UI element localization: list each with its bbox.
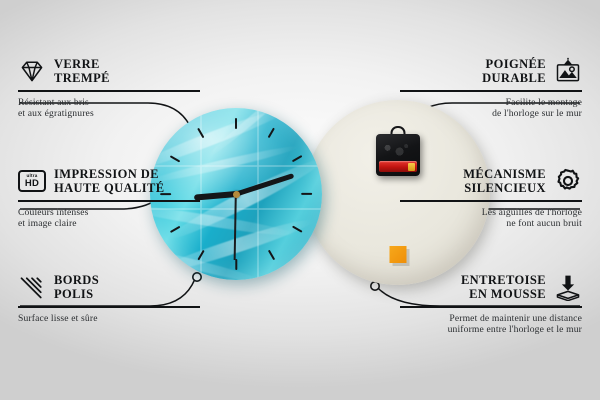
feature-polished-edges: BORDS POLIS Surface lisse et sûre [18,272,200,324]
feature-description: Les aiguilles de l'horloge ne font aucun… [400,207,582,230]
gear-icon [554,167,582,195]
feature-header: VERRE TREMPÉ [18,56,200,86]
feature-foam-spacer: ENTRETOISE EN MOUSSE Permet de maintenir… [400,272,582,336]
diamond-icon [18,57,46,85]
feature-print-quality: ultra HD IMPRESSION DE HAUTE QUALITÉ Cou… [18,166,200,230]
feature-title: IMPRESSION DE HAUTE QUALITÉ [54,167,164,196]
divider [18,306,200,308]
feature-description: Facilite le montage de l'horloge sur le … [400,97,582,120]
feature-header: ENTRETOISE EN MOUSSE [400,272,582,302]
foam-spacer-pad [389,246,406,263]
feature-title: VERRE TREMPÉ [54,57,110,86]
feature-durable-handle: POIGNÉE DURABLE Facilite le montage de l… [400,56,582,120]
feature-description: Permet de maintenir une distance uniform… [400,313,582,336]
clock-center-cap [233,191,240,198]
infographic-canvas: VERRE TREMPÉ Résistant aux bris et aux é… [0,0,600,400]
foam-spacer-icon [554,273,582,301]
feature-header: MÉCANISME SILENCIEUX [400,166,582,196]
divider [18,200,200,202]
feature-header: ultra HD IMPRESSION DE HAUTE QUALITÉ [18,166,200,196]
feature-title: ENTRETOISE EN MOUSSE [461,273,546,302]
feature-title: BORDS POLIS [54,273,99,302]
feature-title: MÉCANISME SILENCIEUX [463,167,546,196]
feature-description: Résistant aux bris et aux égratignures [18,97,200,120]
divider [18,90,200,92]
feature-title: POIGNÉE DURABLE [482,57,546,86]
divider [400,306,582,308]
feature-silent-mechanism: MÉCANISME SILENCIEUX Les aiguilles de l'… [400,166,582,230]
feature-tempered-glass: VERRE TREMPÉ Résistant aux bris et aux é… [18,56,200,120]
ultra-hd-icon: ultra HD [18,170,46,192]
feature-header: POIGNÉE DURABLE [400,56,582,86]
divider [400,200,582,202]
picture-frame-hanger-icon [554,57,582,85]
polished-edges-icon [18,273,46,301]
divider [400,90,582,92]
feature-header: BORDS POLIS [18,272,200,302]
feature-description: Surface lisse et sûre [18,313,200,325]
feature-description: Couleurs intenses et image claire [18,207,200,230]
